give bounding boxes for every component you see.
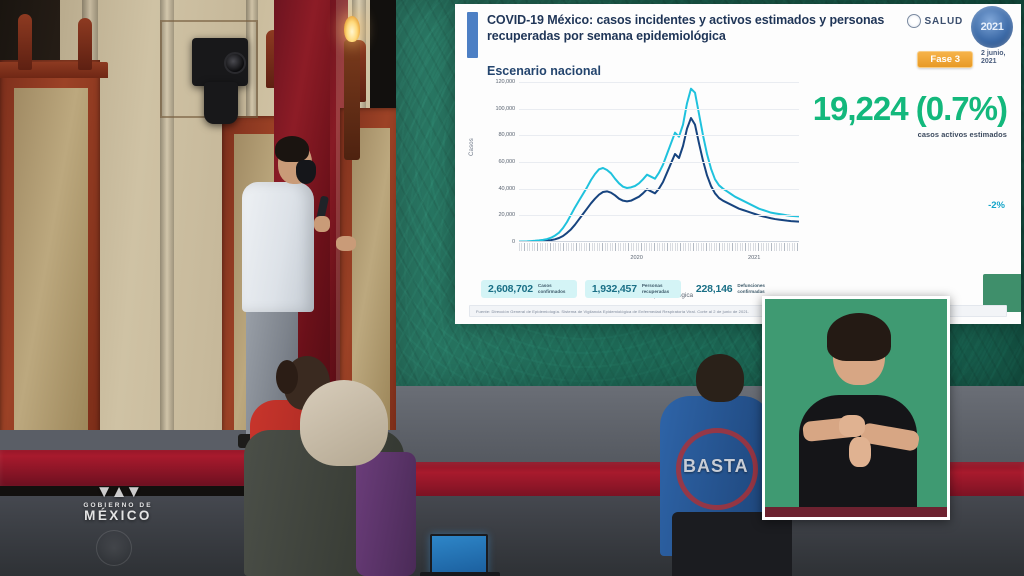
seal-2021-icon: 2021 — [971, 6, 1013, 48]
audience-2-head — [300, 380, 388, 466]
door-left-panel — [14, 88, 88, 460]
fase-badge: Fase 3 — [917, 51, 973, 68]
eagle-emblem-icon: ▼▲▼ — [58, 483, 178, 500]
speaker-hair — [275, 136, 309, 162]
audience-3-chair-back — [672, 512, 792, 576]
summary-stat-value: 228,146 — [696, 283, 733, 295]
chart-y-tick-label: 20,000 — [498, 212, 515, 218]
chart-y-tick-label: 100,000 — [495, 106, 515, 112]
active-cases-caption: casos activos estimados — [813, 130, 1007, 139]
slide-title: COVID-19 México: casos incidentes y acti… — [487, 12, 907, 44]
chart-x-tick-marks — [519, 243, 799, 251]
watermark-line-2: MÉXICO — [58, 509, 178, 524]
camera-lower-housing — [204, 82, 238, 124]
summary-stat-label: Defunciones confirmadas — [737, 283, 769, 294]
chart-y-axis-title: Casos — [469, 138, 475, 156]
basta-jacket-text: BASTA — [683, 456, 749, 477]
chart-gridline — [519, 189, 799, 190]
audience-1-bun — [276, 360, 298, 394]
chart-gridline — [519, 135, 799, 136]
salud-seal-icon — [907, 14, 921, 28]
laptop-screen — [430, 534, 488, 576]
interpreter-hair — [827, 313, 891, 361]
door-left-finial-b — [78, 18, 92, 70]
trend-delta-label: -2% — [988, 200, 1005, 211]
camera-lens-icon — [224, 52, 246, 74]
chart-x-tick-label: 2021 — [748, 255, 760, 261]
slide-accent-bar — [467, 12, 478, 58]
summary-stat-label: Personas recuperadas — [642, 283, 674, 294]
chart-x-axis-line — [519, 241, 799, 242]
summary-stat-value: 1,932,457 — [592, 283, 637, 295]
chart-gridline — [519, 82, 799, 83]
chart-y-tick-label: 120,000 — [495, 79, 515, 85]
chart-y-tick-label: 60,000 — [498, 159, 515, 165]
speaker-hand-gesture — [336, 236, 356, 251]
chart-y-ticks: 020,00040,00060,00080,000100,000120,000 — [477, 82, 517, 242]
salud-logo-text: SALUD — [925, 16, 963, 27]
active-cases-callout: 19,224 (0.7%) casos activos estimados — [813, 92, 1007, 139]
interpreter-hand-right — [849, 437, 871, 467]
chart-gridline — [519, 215, 799, 216]
lamp-post — [344, 40, 360, 160]
salud-logo: SALUD — [907, 14, 963, 28]
door-left-finial-a — [18, 14, 32, 70]
chart-series-line — [519, 118, 799, 242]
laptop-base — [420, 572, 500, 576]
summary-stats: 2,608,702Casos confirmados1,932,457Perso… — [481, 280, 776, 298]
slide-date: 2 junio, 2021 — [981, 50, 1015, 66]
lamp-flame-icon — [344, 16, 360, 42]
chart-y-tick-label: 0 — [512, 239, 515, 245]
summary-stat-label: Casos confirmados — [538, 283, 570, 294]
presentation-slide: COVID-19 México: casos incidentes y acti… — [455, 4, 1021, 324]
seal-2021-year: 2021 — [981, 21, 1004, 33]
summary-stat-value: 2,608,702 — [488, 283, 533, 295]
speaker-face-mask — [296, 160, 316, 184]
epidemic-curve-chart: Casos 020,00040,00060,00080,000100,00012… — [469, 82, 799, 267]
summary-stat: 2,608,702Casos confirmados — [481, 280, 577, 298]
broadcast-frame: COVID-19 México: casos incidentes y acti… — [0, 0, 1024, 576]
chart-y-tick-label: 80,000 — [498, 132, 515, 138]
chart-y-tick-label: 40,000 — [498, 186, 515, 192]
audience-3-head — [696, 354, 744, 402]
sign-language-interpreter-pip — [762, 296, 950, 520]
interpreter-table-edge — [765, 507, 947, 517]
interpreter-hand-left — [839, 415, 865, 437]
chart-series-line — [519, 89, 799, 242]
audience-2-sleeve — [356, 452, 416, 576]
chart-gridline — [519, 109, 799, 110]
speaker-shirt — [242, 182, 314, 312]
chart-gridline — [519, 162, 799, 163]
chart-plot-area: 20202021 — [519, 82, 799, 242]
watermark-seal-icon — [96, 530, 132, 566]
slide-subtitle: Escenario nacional — [487, 64, 601, 78]
active-cases-value: 19,224 (0.7%) — [813, 92, 1007, 125]
government-watermark: ▼▲▼ GOBIERNO DE MÉXICO — [58, 483, 178, 524]
chart-x-tick-label: 2020 — [630, 255, 642, 261]
summary-stat: 1,932,457Personas recuperadas — [585, 280, 681, 298]
speaker-hand-mic — [314, 216, 330, 232]
